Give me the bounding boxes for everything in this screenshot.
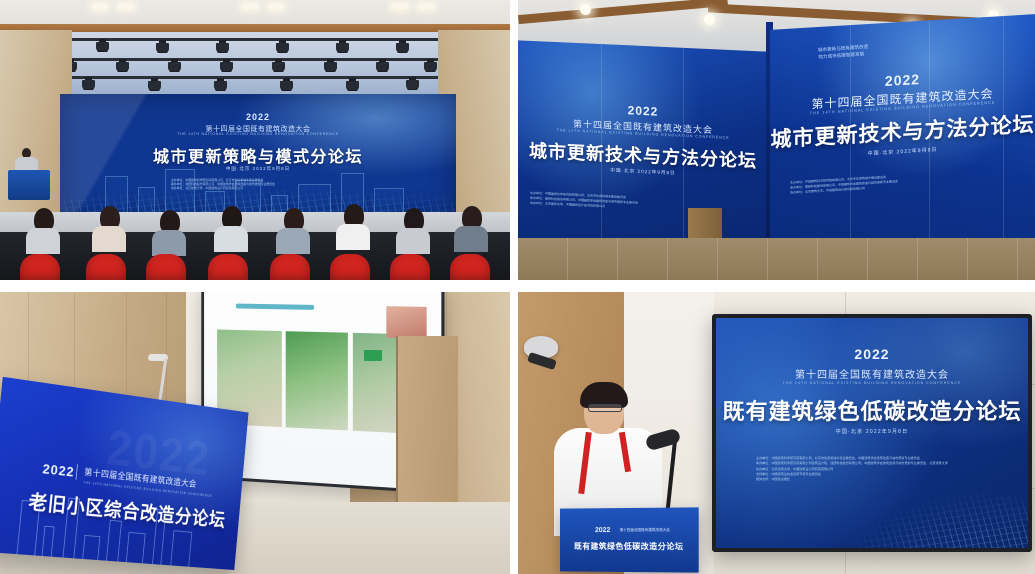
forum-title: 既有建筑绿色低碳改造分论坛 [560,541,699,552]
slide-thumbnail [387,306,427,339]
led-wall-left[interactable]: 2022 第十四届全国既有建筑改造大会 THE 14TH NATIONAL EX… [518,40,768,251]
ceiling-downlight [704,14,715,25]
conference-name-en: THE 14TH NATIONAL EXISTING BUILDING RENO… [716,381,1028,385]
forum-title: 既有建筑绿色低碳改造分论坛 [716,394,1028,426]
sponsor-list: 主办单位：中国建筑科学研究院有限公司、北京市住房和城乡建设委员会 承办单位：建研… [530,191,638,210]
conference-name: 第十四届全国既有建筑改造大会 [620,528,670,533]
podium [8,170,50,200]
ceiling-downlight [580,4,591,15]
slide-title-bar [236,303,315,309]
forum-title: 城市更新策略与模式分论坛 [60,143,456,167]
photo-grid: 2022 第十四届全国既有建筑改造大会 THE 14TH NATIONAL EX… [0,0,1035,574]
exit-sign-icon [364,350,382,361]
photo-panel-banner-and-screen[interactable]: 2022 2022 第十四届全国既有建筑改造大会 THE 14TH NATION… [0,292,510,574]
led-presentation-screen[interactable]: 2022 第十四届全国既有建筑改造大会 THE 14TH NATIONAL EX… [712,314,1032,552]
camera-icon [524,336,558,358]
ceiling-light [118,4,134,9]
ceiling-light [268,4,284,9]
ceiling-light [92,4,108,9]
sponsor-list: 主办单位：中国建筑科学研究院有限公司、北京市住房和城乡建设委员会、中国建筑学会建… [756,456,948,482]
ceiling-light [392,4,408,9]
forum-subtitle: 中国·北京 2022年9月8日 [60,166,456,172]
slide-photo [286,331,348,430]
eyeglasses-icon [588,404,622,412]
year-logo: 2022 [42,461,75,480]
logo-divider [76,465,78,480]
floor [518,238,1035,280]
year-logo: 2022 [60,112,456,122]
conference-name-en: THE 14TH NATIONAL EXISTING BUILDING RENO… [60,132,456,136]
audience-area [0,232,510,280]
sponsor-line: 承办单位：中国建筑科学研究院有限公司建筑设计院、建研科技股份有限公司、中国建筑学… [756,461,948,466]
conference-name: 第十四届全国既有建筑改造大会 [716,366,1028,381]
ceiling-light [242,4,258,9]
year-logo: 2022 [716,346,1028,362]
sponsor-line: 媒体支持：中国建设报社 [756,477,948,482]
sponsor-list: 主办单位：中国建筑科学研究院有限公司、北京市住房和城乡建设委员会 承办单位：建研… [790,174,898,195]
stage-led-screen[interactable]: 2022 第十四届全国既有建筑改造大会 THE 14TH NATIONAL EX… [60,94,456,216]
podium-sign[interactable]: 2022 第十四届全国既有建筑改造大会 既有建筑绿色低碳改造分论坛 [560,507,699,572]
photo-panel-main-hall[interactable]: 2022 第十四届全国既有建筑改造大会 THE 14TH NATIONAL EX… [0,0,510,280]
lighting-rig-area [12,32,506,94]
ceiling-light [418,4,434,9]
photo-panel-speaker[interactable]: 2022 第十四届全国既有建筑改造大会 THE 14TH NATIONAL EX… [518,292,1035,574]
forum-subtitle: 中国·北京 2022年9月8日 [716,428,1028,435]
photo-panel-dual-led-walls[interactable]: 2022 第十四届全国既有建筑改造大会 THE 14TH NATIONAL EX… [518,0,1035,280]
year-logo: 2022 [595,527,610,534]
sponsor-list: 主办单位：中国建筑科学研究院有限公司、北京市住房和城乡建设委员会 承办单位：建研… [171,178,275,191]
sponsor-line: 协办单位：北京建筑大学、中国建筑设计研究院有限公司 [171,186,275,190]
